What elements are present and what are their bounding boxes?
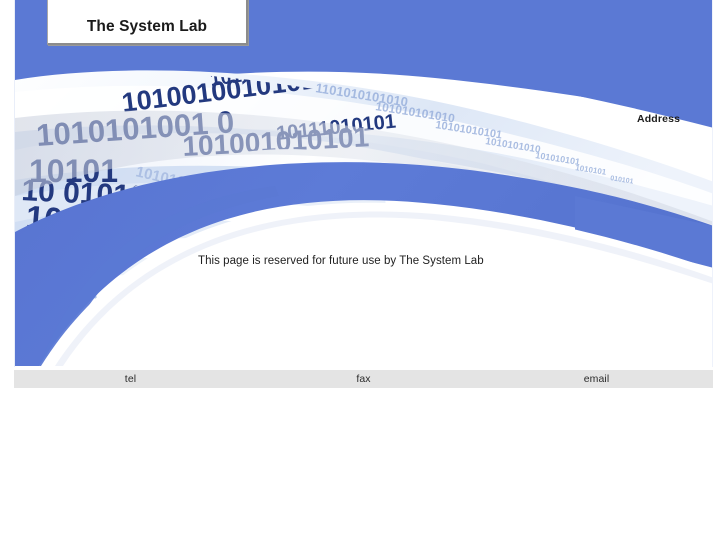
binary-ribbon-banner-image: 1101010101010 101010101010 10101010101 1… bbox=[15, 0, 713, 367]
contact-footer-bar: tel fax email bbox=[14, 370, 713, 388]
footer-cell-email: email bbox=[480, 373, 713, 385]
footer-cell-tel: tel bbox=[14, 373, 247, 385]
banner-region: 1101010101010 101010101010 10101010101 1… bbox=[14, 0, 713, 367]
reserved-page-message: This page is reserved for future use by … bbox=[198, 255, 484, 267]
address-label: Address bbox=[637, 113, 680, 125]
page-root: 1101010101010 101010101010 10101010101 1… bbox=[0, 0, 727, 545]
site-title-plaque: The System Lab bbox=[47, 0, 248, 45]
page-title: The System Lab bbox=[87, 18, 207, 36]
footer-cell-fax: fax bbox=[247, 373, 480, 385]
